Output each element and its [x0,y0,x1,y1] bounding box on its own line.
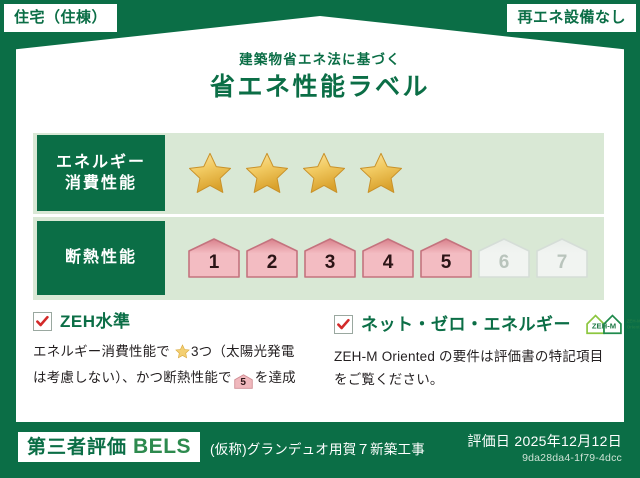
insulation-grade-badge: 4 [361,237,415,279]
insulation-grade-badge: 2 [245,237,299,279]
grade-value: 4 [383,253,394,272]
certification-details: ZEH水準 エネルギー消費性能で 3つ（太陽光発電は考慮しない）、かつ断熱性能で… [33,312,607,410]
insulation-performance-row: 断熱性能 1234567 [33,217,604,301]
bels-logo-text: BELS [133,435,191,458]
net-zero-description: ZEH-M Oriented の要件は評価書の特記項目をご覧ください。 [334,345,607,391]
net-zero-checkbox [334,315,353,334]
star-list [187,151,404,195]
zeh-description: エネルギー消費性能で 3つ（太陽光発電は考慮しない）、かつ断熱性能で 5を達成 [33,340,306,389]
insulation-grade-badge: 5 [419,237,473,279]
grade-value: 3 [325,253,336,272]
page-title: 省エネ性能ラベル [0,73,640,102]
zeh-m-logo: ZEH-M ZEH-M Oriented [584,312,640,336]
insulation-grade-scale: 1234567 [165,237,604,279]
evaluation-id: 9da28da4-1f79-4dcc [522,452,622,464]
zeh-text-part1: エネルギー消費性能で [33,344,170,359]
zeh-checkbox [33,312,52,331]
star-icon [187,151,233,195]
svg-text:ZEH-M: ZEH-M [627,319,640,324]
star-icon [244,151,290,195]
title-block: 建築物省エネ法に基づく 省エネ性能ラベル [0,52,640,102]
insulation-grade-badge: 1 [187,237,241,279]
star-icon [358,151,404,195]
grade-value: 2 [267,253,278,272]
insulation-grade-badge: 7 [535,237,589,279]
svg-text:Oriented: Oriented [627,324,640,329]
energy-performance-label-box: エネルギー 消費性能 [37,135,165,211]
zeh-title: ZEH水準 [60,313,131,330]
energy-performance-label: 住宅（住棟） 再エネ設備なし 建築物省エネ法に基づく 省エネ性能ラベル エネルギ… [0,0,640,478]
insulation-performance-label-box: 断熱性能 [37,221,165,295]
insulation-grade-badge: 6 [477,237,531,279]
svg-text:ZEH-M: ZEH-M [592,322,616,331]
zeh-text-part3: を達成 [255,370,296,385]
renewable-energy-tag: 再エネ設備なし [507,4,636,32]
energy-label-line1: エネルギー [56,152,146,174]
energy-label-line2: 消費性能 [65,173,137,195]
grade-list: 1234567 [187,237,589,279]
inline-grade-badge: 5 [234,374,253,389]
energy-star-rating [165,151,604,195]
label-footer: 第三者評価BELS (仮称)グランデュオ用賀７新築工事 評価日 2025年12月… [0,424,640,478]
title-subtitle: 建築物省エネ法に基づく [0,52,640,68]
rating-panel: エネルギー 消費性能 断熱性能 1234567 [33,133,604,300]
net-zero-energy-section: ネット・ゼロ・エネルギー ZEH-M ZEH-M Oriented ZEH-M … [320,312,607,410]
bels-badge: 第三者評価BELS [18,432,200,462]
zeh-section: ZEH水準 エネルギー消費性能で 3つ（太陽光発電は考慮しない）、かつ断熱性能で… [33,312,320,410]
net-zero-title: ネット・ゼロ・エネルギー [361,316,571,333]
zeh-heading: ZEH水準 [33,312,306,331]
bels-japanese-label: 第三者評価 [27,437,127,458]
inline-star-icon [171,347,190,362]
evaluation-date: 評価日 2025年12月12日 [467,431,622,451]
inline-grade-value: 5 [240,377,246,388]
grade-value: 1 [209,253,220,272]
grade-value: 5 [441,253,452,272]
project-name: (仮称)グランデュオ用賀７新築工事 [210,438,425,458]
star-icon [301,151,347,195]
net-zero-heading: ネット・ゼロ・エネルギー ZEH-M ZEH-M Oriented [334,312,607,336]
energy-performance-row: エネルギー 消費性能 [33,133,604,217]
insulation-label-line1: 断熱性能 [65,247,137,269]
grade-value: 7 [557,253,568,272]
grade-value: 6 [499,253,510,272]
building-type-tag: 住宅（住棟） [4,4,117,32]
insulation-grade-badge: 3 [303,237,357,279]
